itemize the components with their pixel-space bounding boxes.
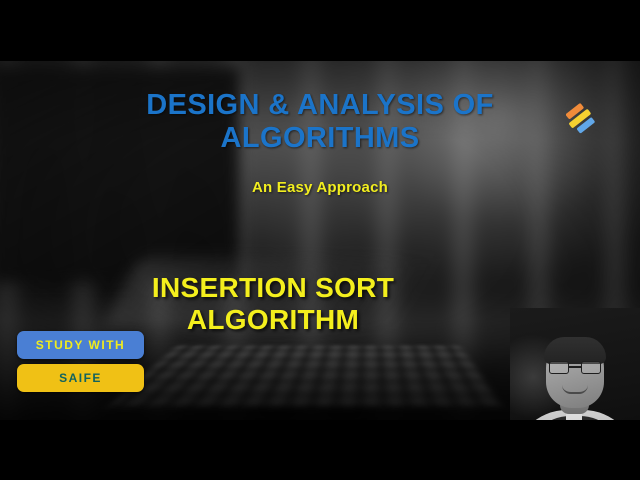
course-title: DESIGN & ANALYSIS OF ALGORITHMS <box>0 89 640 155</box>
portrait-glasses-icon <box>549 361 601 374</box>
portrait-glasses-right-lens <box>581 361 601 374</box>
portrait-glasses-left-lens <box>549 361 569 374</box>
letterbox-top-bar <box>0 0 640 61</box>
letterbox-bottom-bar <box>0 420 640 480</box>
topic-title: INSERTION SORT ALGORITHM <box>78 272 468 337</box>
portrait-hair <box>544 337 606 364</box>
channel-badge-group: STUDY WITH SAIFE <box>17 331 144 392</box>
channel-badge-saife: SAIFE <box>17 364 144 392</box>
brand-logo-svg <box>566 100 596 140</box>
brand-logo-icon <box>566 100 596 140</box>
portrait-glasses-bridge <box>569 366 581 368</box>
course-subtitle: An Easy Approach <box>0 179 640 196</box>
channel-badge-study-with: STUDY WITH <box>17 331 144 359</box>
video-thumbnail-frame: DESIGN & ANALYSIS OF ALGORITHMS An Easy … <box>0 0 640 480</box>
course-title-block: DESIGN & ANALYSIS OF ALGORITHMS An Easy … <box>0 89 640 196</box>
